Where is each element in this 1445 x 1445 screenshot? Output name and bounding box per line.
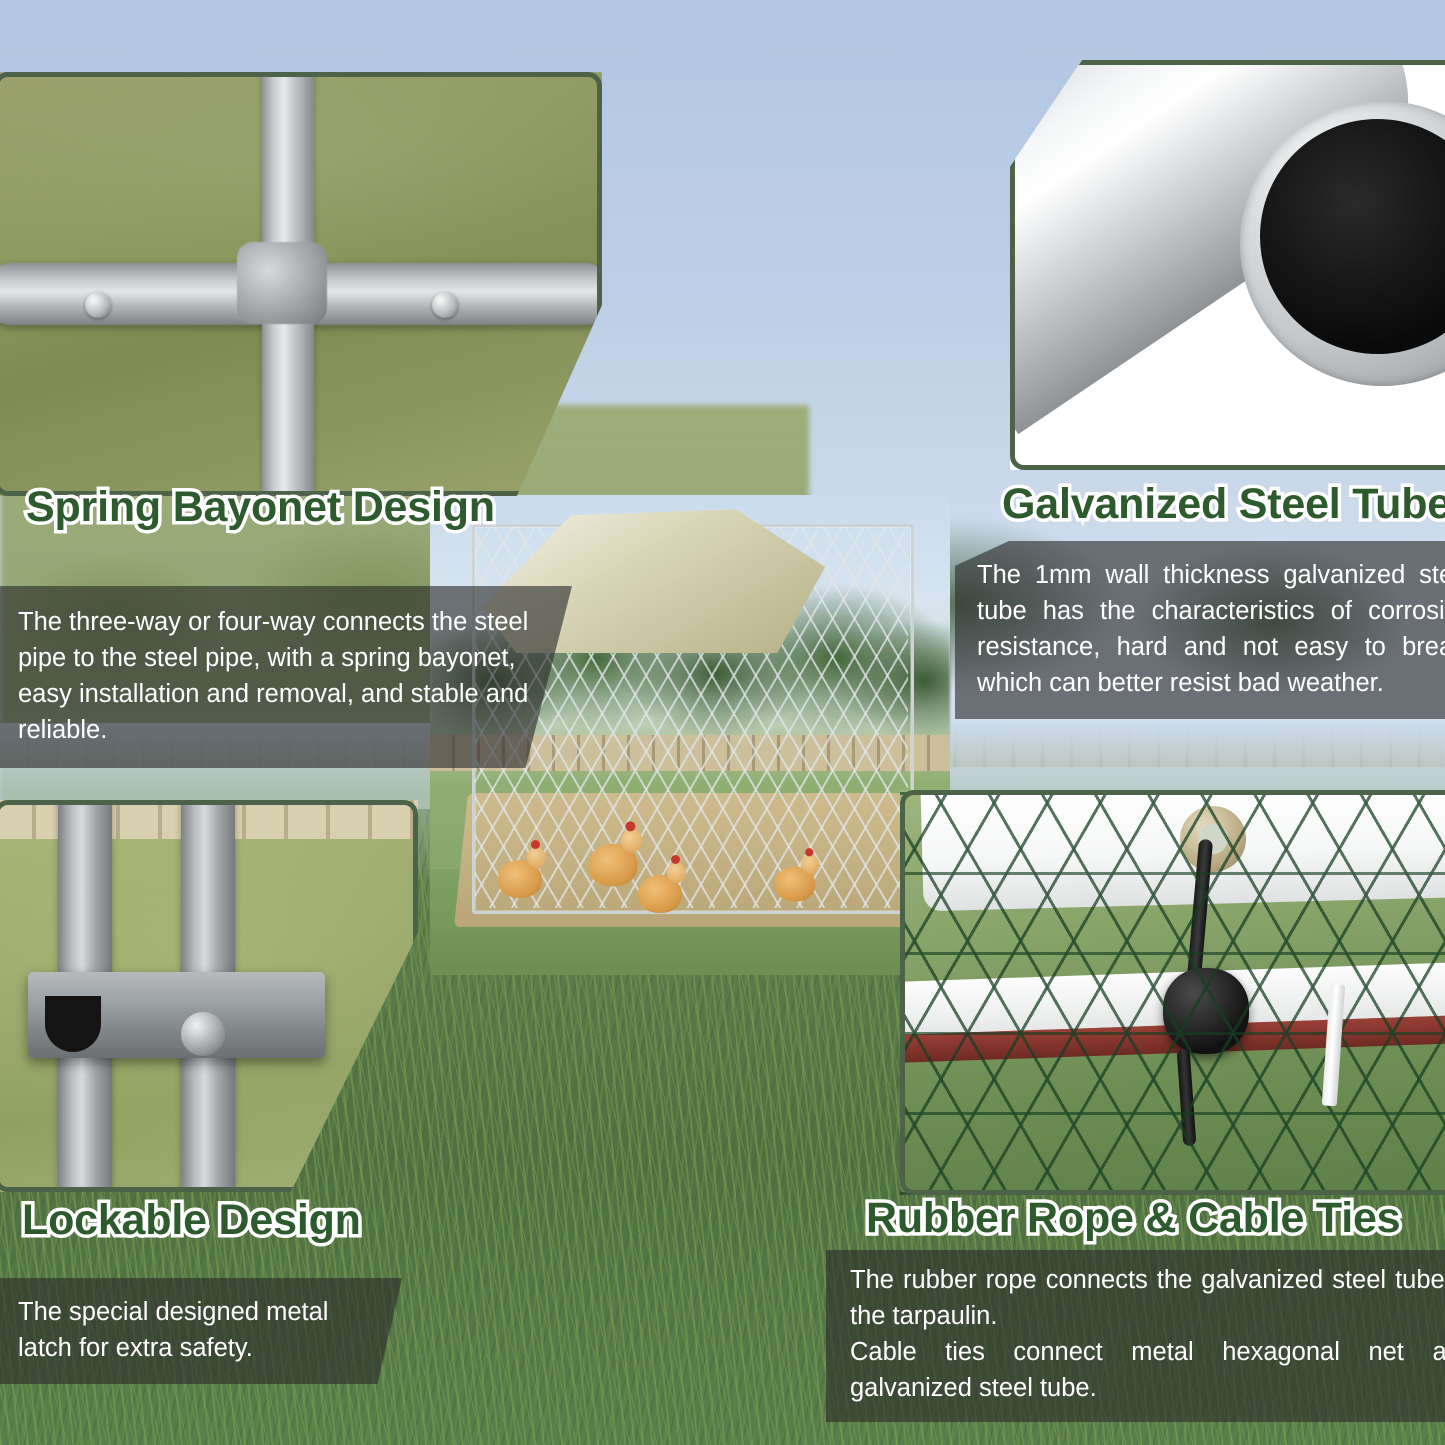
- description-line-1: The rubber rope connects the galvanized …: [850, 1262, 1445, 1334]
- three-way-connector: [237, 242, 327, 324]
- rubber-rope-photo: [900, 790, 1445, 1195]
- hexagonal-net: [900, 790, 1445, 1195]
- steel-tube-photo: [1010, 60, 1445, 470]
- latch-screw: [181, 1012, 225, 1056]
- feature-photo-spring-bayonet: [0, 72, 602, 496]
- feature-title-galvanized-tube: Galvanized Steel Tube: [1002, 480, 1445, 529]
- chicken: [589, 844, 638, 887]
- feature-title-lockable-design: Lockable Design: [22, 1196, 361, 1245]
- feature-description-lockable-design: The special designed metal latch for ext…: [0, 1278, 402, 1384]
- feature-photo-galvanized-tube: [1010, 60, 1445, 470]
- infographic-root: Spring Bayonet Design Galvanized Steel T…: [0, 0, 1445, 1445]
- chicken: [638, 875, 682, 913]
- feature-description-rubber-rope: The rubber rope connects the galvanized …: [826, 1250, 1445, 1422]
- feature-title-rubber-rope: Rubber Rope & Cable Ties: [866, 1194, 1400, 1243]
- latch-slot: [45, 996, 101, 1052]
- description-line-2: Cable ties connect metal hexagonal net a…: [850, 1334, 1445, 1406]
- chicken: [498, 860, 542, 898]
- pipe-connector-photo: [0, 72, 602, 496]
- chicken: [775, 867, 815, 902]
- feature-description-spring-bayonet: The three-way or four-way connects the s…: [0, 586, 572, 768]
- feature-description-galvanized-tube: The 1mm wall thickness galvanized steel …: [955, 541, 1445, 719]
- feature-photo-rubber-rope: [900, 790, 1445, 1195]
- feature-title-spring-bayonet: Spring Bayonet Design: [26, 483, 495, 532]
